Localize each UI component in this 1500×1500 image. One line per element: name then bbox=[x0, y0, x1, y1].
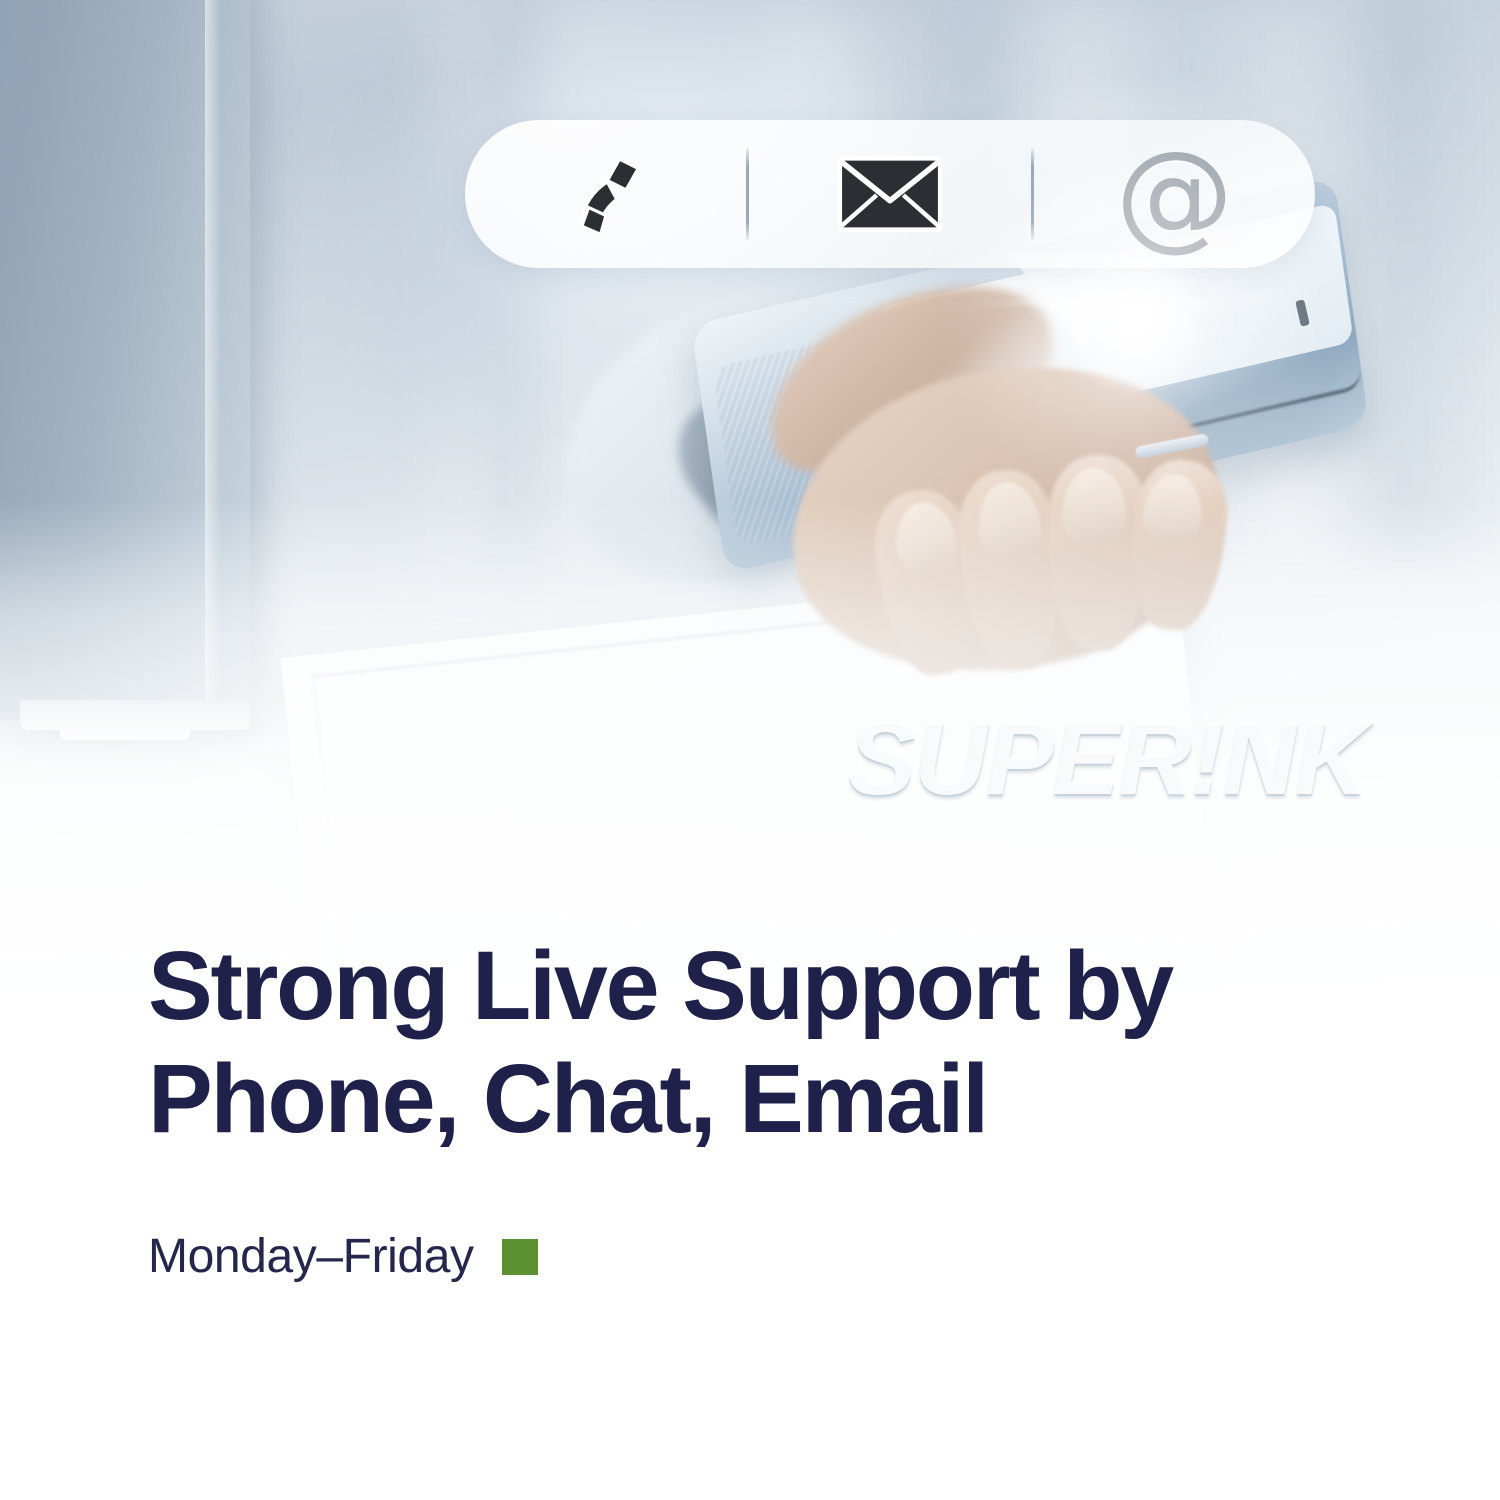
page-title: Strong Live Support by Phone, Chat, Emai… bbox=[148, 930, 1348, 1155]
headline-line-1: Strong Live Support by bbox=[148, 931, 1172, 1040]
pill-item-phone[interactable] bbox=[465, 120, 746, 268]
subtitle-row: Monday–Friday bbox=[148, 1229, 1348, 1284]
phone-icon bbox=[563, 151, 649, 237]
envelope-icon bbox=[836, 155, 944, 233]
text-block: Strong Live Support by Phone, Chat, Emai… bbox=[148, 930, 1348, 1284]
superink-watermark: SUPER!NK bbox=[848, 700, 1367, 819]
availability-subtitle: Monday–Friday bbox=[148, 1229, 474, 1284]
headline-line-2: Phone, Chat, Email bbox=[148, 1044, 987, 1153]
green-accent-square bbox=[502, 1239, 538, 1275]
lens-flare-core bbox=[1060, 245, 1210, 395]
hero-photo: @ SUPER!NK bbox=[0, 0, 1500, 1010]
support-promo-banner: @ SUPER!NK Strong Live Support by Phone,… bbox=[0, 0, 1500, 1500]
